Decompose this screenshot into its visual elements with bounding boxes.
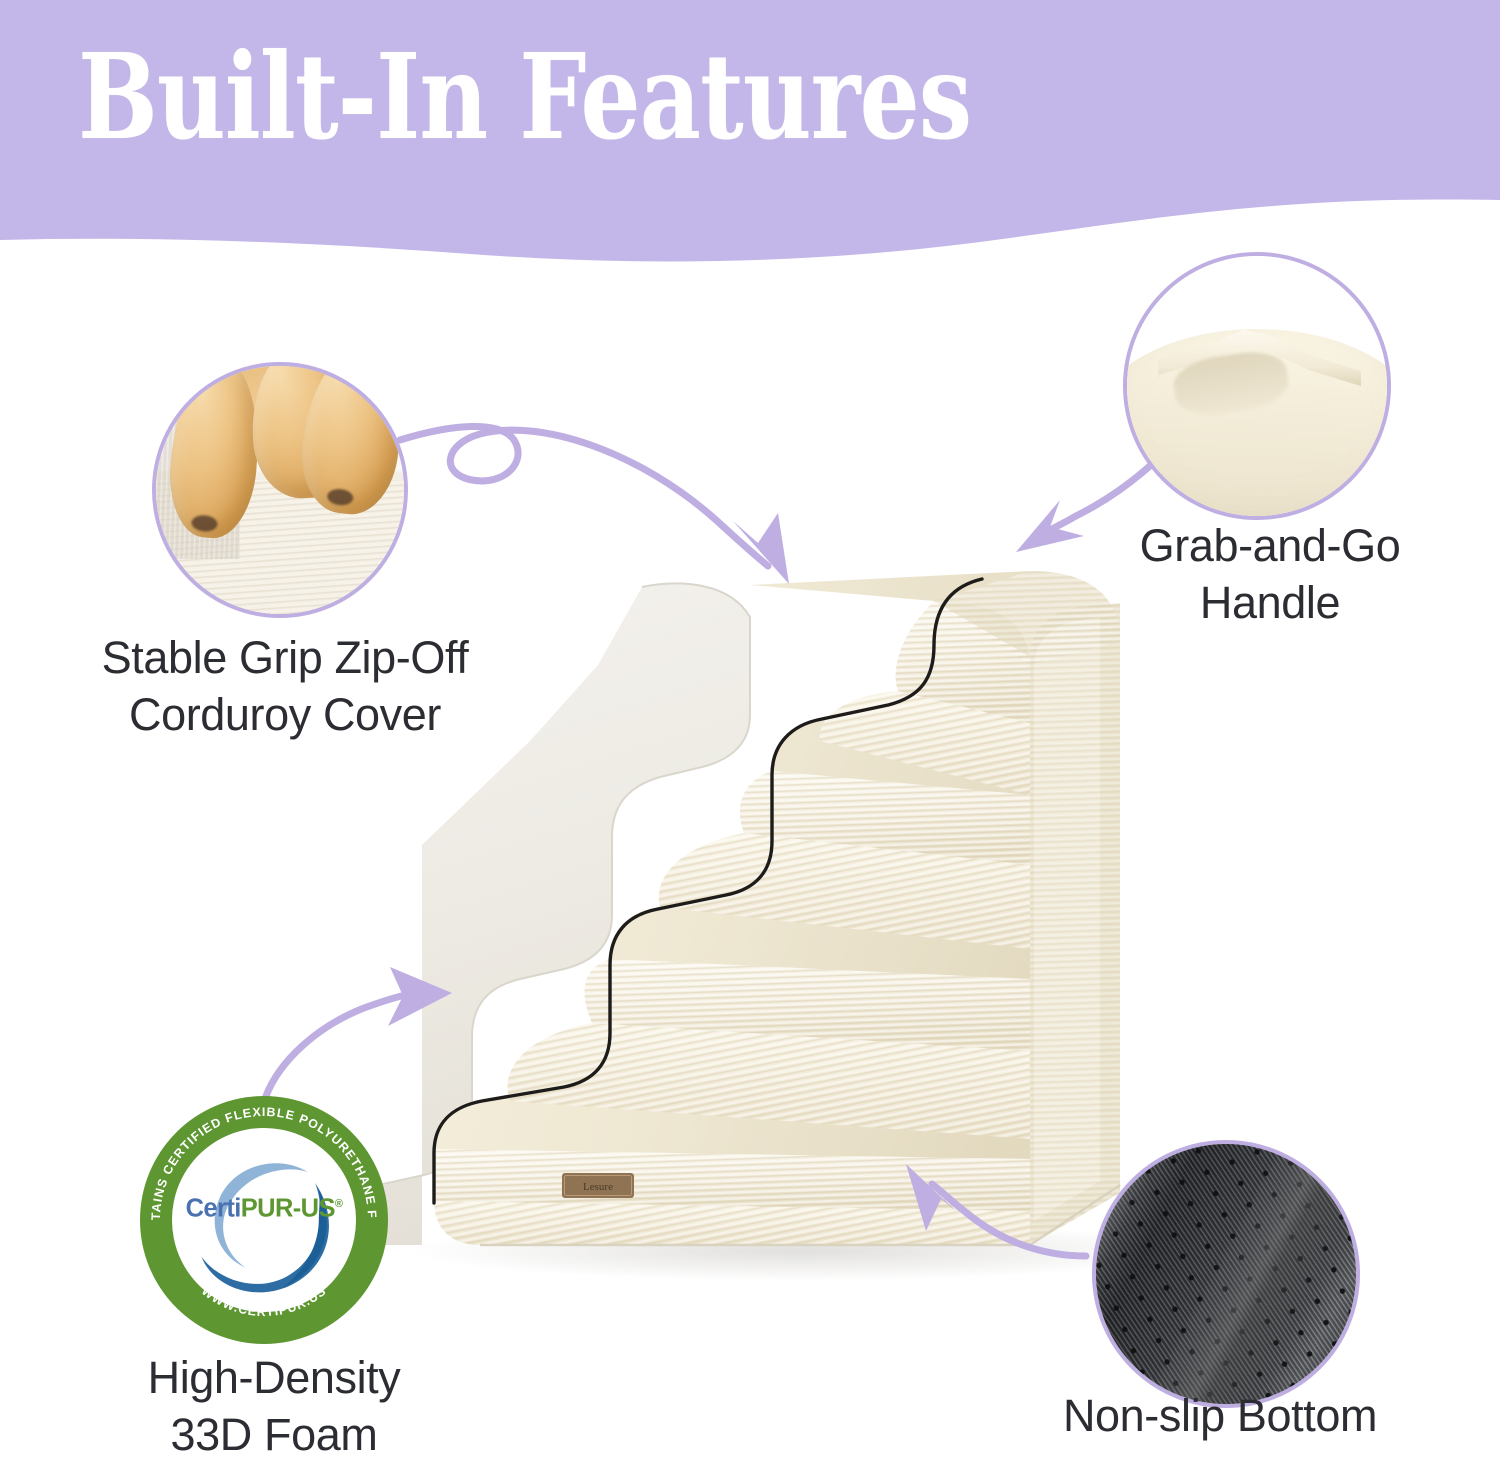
brand-tag-label: Lesure xyxy=(583,1181,613,1193)
caption-corduroy-cover: Stable Grip Zip-Off Corduroy Cover xyxy=(20,630,550,743)
handle-photo-background xyxy=(1127,256,1387,516)
caption-non-slip-bottom: Non-slip Bottom xyxy=(975,1388,1465,1445)
infographic-canvas: Built-In Features xyxy=(0,0,1500,1453)
page-title: Built-In Features xyxy=(78,38,971,156)
caption-high-density-foam: High-Density 33D Foam xyxy=(44,1350,504,1463)
nonslip-fabric-base xyxy=(1096,1144,1356,1404)
header-band: Built-In Features xyxy=(0,0,1500,275)
paw-photo-background xyxy=(156,366,404,614)
inset-dog-paws-on-corduroy xyxy=(152,362,408,618)
certipur-us-badge: CONTAINS CERTIFIED FLEXIBLE POLYURETHANE… xyxy=(140,1096,388,1344)
inset-non-slip-fabric xyxy=(1092,1140,1360,1408)
inset-carry-handle xyxy=(1123,252,1391,520)
badge-registered-mark: ® xyxy=(335,1198,343,1210)
badge-center-wordmark: CertiPUR-US® xyxy=(140,1194,388,1223)
nonslip-fabric-sheen xyxy=(1096,1144,1356,1404)
badge-word-part1: Certi xyxy=(186,1194,241,1222)
caption-grab-and-go-handle: Grab-and-Go Handle xyxy=(1050,518,1490,631)
brand-leather-tag: Lesure xyxy=(562,1173,634,1198)
badge-word-part2: PUR-US xyxy=(241,1194,335,1222)
